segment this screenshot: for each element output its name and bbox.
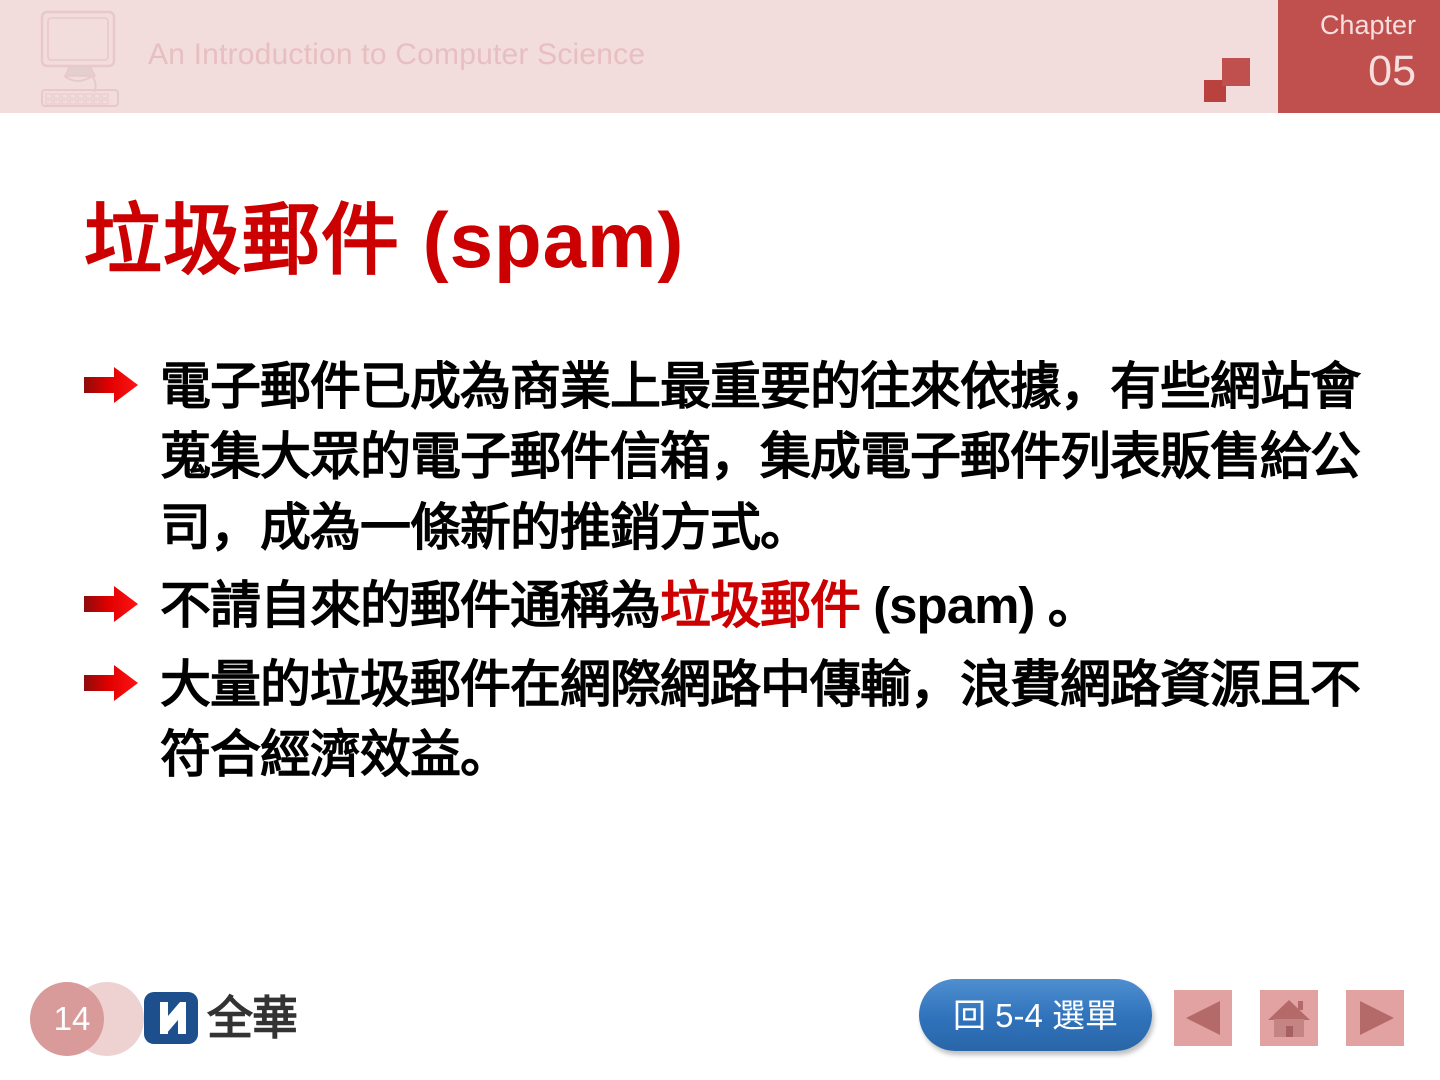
chuan-hwa-logo-icon bbox=[144, 992, 198, 1044]
red-arrow-icon bbox=[82, 583, 140, 625]
page-title: 垃圾郵件 (spam) bbox=[84, 178, 684, 290]
bullet-text-segment: (spam) 。 bbox=[860, 577, 1098, 634]
course-title: An Introduction to Computer Science bbox=[148, 38, 645, 72]
back-to-menu-button[interactable]: 回 5-4 選單 bbox=[919, 979, 1152, 1051]
decor-square-large bbox=[1222, 58, 1250, 86]
red-arrow-icon bbox=[82, 662, 140, 704]
chapter-label: Chapter bbox=[1286, 12, 1416, 39]
brand-logo: 全華 bbox=[144, 990, 297, 1046]
bullet-text-highlight: 垃圾郵件 bbox=[660, 577, 860, 634]
home-slide-button[interactable] bbox=[1260, 990, 1318, 1046]
previous-slide-button[interactable] bbox=[1174, 990, 1232, 1046]
house-icon bbox=[1260, 990, 1318, 1046]
page-number-badge: 14 bbox=[26, 980, 130, 1058]
bullet-item: 大量的垃圾郵件在網際網路中傳輸，浪費網路資源且不符合經濟效益。 bbox=[76, 650, 1366, 791]
bullet-text: 電子郵件已成為商業上最重要的往來依據，有些網站會蒐集大眾的電子郵件信箱，集成電子… bbox=[160, 358, 1360, 556]
bullet-text: 不請自來的郵件通稱為垃圾郵件 (spam) 。 bbox=[160, 577, 1098, 634]
slide-header: An Introduction to Computer Science Chap… bbox=[0, 0, 1440, 113]
triangle-left-icon bbox=[1174, 990, 1232, 1046]
slide-body: 電子郵件已成為商業上最重要的往來依據，有些網站會蒐集大眾的電子郵件信箱，集成電子… bbox=[76, 352, 1366, 798]
chapter-number: 05 bbox=[1286, 50, 1416, 93]
red-arrow-icon bbox=[82, 364, 140, 406]
bullet-item: 不請自來的郵件通稱為垃圾郵件 (spam) 。 bbox=[76, 571, 1366, 641]
triangle-right-icon bbox=[1346, 990, 1404, 1046]
page-number: 14 bbox=[30, 982, 114, 1056]
bullet-item: 電子郵件已成為商業上最重要的往來依據，有些網站會蒐集大眾的電子郵件信箱，集成電子… bbox=[76, 352, 1366, 563]
desktop-computer-icon bbox=[34, 8, 140, 108]
brand-name: 全華 bbox=[207, 995, 297, 1041]
bullet-text-segment: 不請自來的郵件通稱為 bbox=[160, 577, 660, 634]
next-slide-button[interactable] bbox=[1346, 990, 1404, 1046]
bullet-text: 大量的垃圾郵件在網際網路中傳輸，浪費網路資源且不符合經濟效益。 bbox=[160, 656, 1360, 783]
